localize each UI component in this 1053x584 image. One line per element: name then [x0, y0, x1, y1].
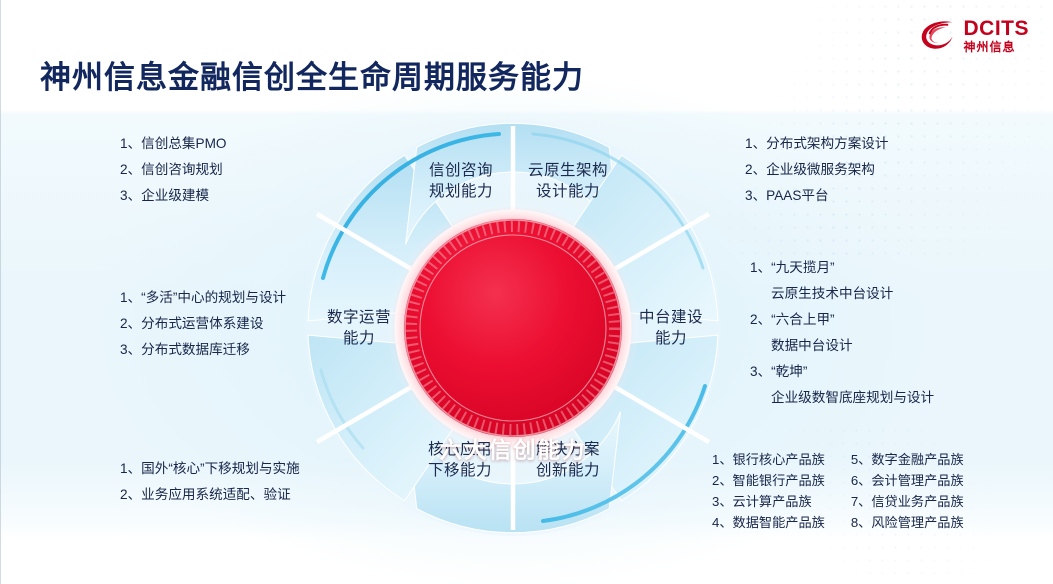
segment-label-cloud-native: 云原生架构 设计能力 [508, 161, 628, 203]
list-item-sub: 企业级数智底座规划与设计 [750, 385, 934, 411]
block-mid-left: 1、“多活”中心的规划与设计 2、分布式运营体系建设 3、分布式数据库迁移 [120, 285, 286, 363]
list-item: 4、数据智能产品族 [712, 512, 825, 533]
list-item: 8、风险管理产品族 [851, 512, 964, 533]
segment-label-digital-ops: 数字运营 能力 [307, 308, 411, 350]
page-title: 神州信息金融信创全生命周期服务能力 [40, 52, 584, 97]
list-item: 5、数字金融产品族 [851, 449, 964, 470]
list-item-title: 1、“九天揽月” [750, 260, 835, 275]
list-item: 3、分布式数据库迁移 [120, 337, 286, 363]
segment-label-core-app: 核心应用 下移能力 [401, 440, 519, 482]
list-item: 6、会计管理产品族 [851, 470, 964, 491]
block-bottom-left: 1、国外“核心”下移规划与实施 2、业务应用系统适配、验证 [120, 456, 300, 508]
segment-label-consulting: 信创咨询 规划能力 [401, 161, 521, 203]
logo-text-cn: 神州信息 [964, 41, 1030, 53]
list-item: 3、“乾坤” 企业级数智底座规划与设计 [750, 359, 934, 411]
slide-left-edge-rule [0, 0, 1, 584]
product-family-column-2: 5、数字金融产品族 6、会计管理产品族 7、信贷业务产品族 8、风险管理产品族 [851, 449, 964, 533]
list-item: 1、信创总集PMO [120, 131, 227, 157]
list-item: 2、企业级微服务架构 [745, 157, 889, 183]
list-item: 3、云计算产品族 [712, 491, 825, 512]
dcits-logo: DCITS 神州信息 [919, 14, 1030, 56]
block-mid-right: 1、“九天揽月” 云原生技术中台设计 2、“六合上甲” 数据中台设计 3、“乾坤… [750, 255, 934, 411]
list-item: 2、信创咨询规划 [120, 157, 227, 183]
dcits-swoosh-icon [919, 18, 957, 52]
product-family-column-1: 1、银行核心产品族 2、智能银行产品族 3、云计算产品族 4、数据智能产品族 [712, 449, 825, 533]
list-item: 3、企业级建模 [120, 183, 227, 209]
list-item: 7、信贷业务产品族 [851, 491, 964, 512]
list-item: 1、“九天揽月” 云原生技术中台设计 [750, 255, 934, 307]
segment-label-midend: 中台建设 能力 [621, 308, 721, 350]
list-item: 2、智能银行产品族 [712, 470, 825, 491]
list-item: 2、业务应用系统适配、验证 [120, 482, 300, 508]
list-item: 1、分布式架构方案设计 [745, 131, 889, 157]
block-bottom-right: 1、银行核心产品族 2、智能银行产品族 3、云计算产品族 4、数据智能产品族 5… [712, 449, 964, 533]
list-item-sub: 云原生技术中台设计 [750, 281, 934, 307]
list-item: 2、“六合上甲” 数据中台设计 [750, 307, 934, 359]
list-item: 3、PAAS平台 [745, 183, 889, 209]
list-item-title: 3、“乾坤” [750, 364, 807, 379]
segment-label-solution: 解决方案 创新能力 [509, 440, 627, 482]
slide-root: DCITS 神州信息 神州信息金融信创全生命周期服务能力 [0, 0, 1053, 584]
list-item-title: 2、“六合上甲” [750, 312, 835, 327]
logo-text-en: DCITS [964, 18, 1030, 39]
block-top-left: 1、信创总集PMO 2、信创咨询规划 3、企业级建模 [120, 131, 227, 209]
list-item: 2、分布式运营体系建设 [120, 311, 286, 337]
list-item: 1、“多活”中心的规划与设计 [120, 285, 286, 311]
six-capability-donut: 信创咨询 规划能力 云原生架构 设计能力 中台建设 能力 解决方案 创新能力 核… [303, 118, 723, 538]
block-top-right: 1、分布式架构方案设计 2、企业级微服务架构 3、PAAS平台 [745, 131, 889, 209]
list-item: 1、国外“核心”下移规划与实施 [120, 456, 300, 482]
list-item: 1、银行核心产品族 [712, 449, 825, 470]
list-item-sub: 数据中台设计 [750, 333, 934, 359]
